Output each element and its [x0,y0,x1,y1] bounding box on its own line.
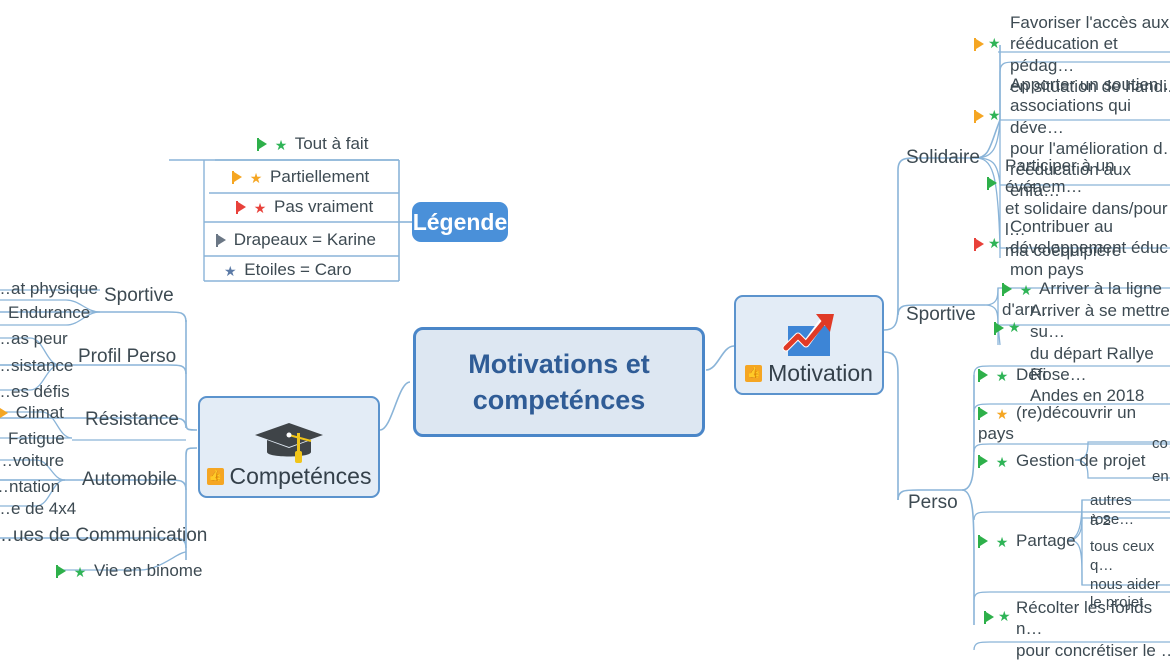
node-motivation[interactable]: Motivation [734,295,884,395]
node-motivation-label-row: Motivation [745,360,873,387]
leaf-perso-2-child-0[interactable]: co… [1152,435,1170,454]
branch-label-solidaire[interactable]: Solidaire [906,147,980,169]
mindmap-canvas: Motivations et competénces Competénces [0,0,1170,663]
branch-label-profil-perso[interactable]: Profil Perso [78,346,176,368]
leaf-left-communication-0[interactable]: ★ Vie en binome [56,560,202,581]
legend-item-label: Pas vraiment [274,197,373,216]
node-competences[interactable]: Competénces [198,396,380,498]
leaf-text: Arriver à se mettre su… du départ Rallye… [1030,301,1170,405]
legend-item-3[interactable]: Drapeaux = Karine [216,229,376,250]
star-icon: ★ [988,236,1001,250]
flag-icon [987,177,998,190]
node-competences-label-row: Competénces [207,463,372,490]
leaf-perso-3-child-1[interactable]: à 2 [1090,512,1111,531]
star-icon: ★ [988,108,1001,122]
leaf-solidaire-3[interactable]: ★ Contribuer au développement éduc… mon … [1010,216,1170,280]
central-node[interactable]: Motivations et competénces [413,327,705,437]
leaf-perso-0[interactable]: ★ Défi [978,364,1046,385]
growth-chart-icon [778,310,840,360]
branch-label-automobile[interactable]: Automobile [82,469,177,491]
leaf-perso-2[interactable]: ★ Gestion de projet [978,450,1146,471]
graduation-cap-icon [253,419,325,463]
leaf-left-automobile-2[interactable]: …e de 4x4 [0,498,76,519]
leaf-text: Fatigue [8,429,65,448]
leaf-text: Contribuer au développement éduc… mon pa… [1010,217,1170,279]
legend-item-label: Tout à fait [295,134,369,153]
leaf-text: …e de 4x4 [0,499,76,518]
cap-tassel-icon [297,433,300,453]
leaf-left-resistance-1[interactable]: Fatigue [8,428,65,449]
leaf-text: à 2 [1090,512,1111,529]
legend-item-4[interactable]: ★ Etoiles = Caro [224,259,352,280]
leaf-text: Vie en binome [94,561,202,580]
leaf-perso-3[interactable]: ★ Partage [978,530,1076,551]
legend-item-2[interactable]: ★ Pas vraiment [236,196,373,217]
flag-icon [994,322,1005,335]
star-icon: ★ [1008,320,1021,334]
leaf-text: Gestion de projet [1016,451,1145,470]
leaf-left-profil-2[interactable]: …es défis [0,381,70,402]
leaf-text: …sistance [0,356,73,375]
branch-label-communication[interactable]: …ues de Communication [0,525,207,547]
legend-item-label: Etoiles = Caro [244,260,351,279]
node-competences-label: Competénces [230,463,372,490]
legend-button-label: Légende [413,209,508,236]
flag-icon [1002,283,1013,296]
leaf-text: co… [1152,435,1170,452]
leaf-text: …es défis [0,382,70,401]
leaf-left-resistance-0[interactable]: Climat [0,402,64,423]
flag-icon [978,535,989,548]
central-node-line1: Motivations et [468,346,650,382]
star-icon: ★ [996,535,1009,549]
legend-item-label: Partiellement [270,167,369,186]
leaf-left-sportive-0[interactable]: …at physique [0,278,98,299]
leaf-text: …at physique [0,279,98,298]
leaf-perso-1[interactable]: ★ (re)découvrir un pays [978,402,1170,445]
leaf-text: Partage [1016,531,1076,550]
branch-label-text: Automobile [82,469,177,490]
leaf-perso-2-child-1[interactable]: en… [1152,468,1170,487]
star-icon: ★ [988,36,1001,50]
star-icon: ★ [996,455,1009,469]
star-icon: ★ [275,138,288,152]
flag-icon [974,110,985,123]
flag-icon [978,407,989,420]
legend-button[interactable]: Légende [412,202,508,242]
leaf-sportive-right-1[interactable]: ★ Arriver à se mettre su… du départ Rall… [1030,300,1170,406]
thumbs-up-icon [745,365,762,382]
legend-item-label: Drapeaux = Karine [234,230,376,249]
star-icon: ★ [250,171,263,185]
branch-label-text: Perso [908,492,958,513]
leaf-text: …as peur [0,329,68,348]
star-icon: ★ [224,264,237,278]
star-icon: ★ [1020,283,1033,297]
branch-label-text: Sportive [906,304,976,325]
leaf-text: en… [1152,468,1170,485]
branch-label-perso[interactable]: Perso [908,492,958,514]
leaf-left-profil-0[interactable]: …as peur [0,328,68,349]
leaf-left-automobile-1[interactable]: …ntation [0,476,60,497]
branch-label-text: Solidaire [906,147,980,168]
leaf-text: Climat [16,403,64,422]
branch-label-sportive-left[interactable]: Sportive [104,285,174,307]
branch-label-text: …ues de Communication [0,525,207,546]
flag-icon [232,171,243,184]
leaf-perso-4[interactable]: ★ Récolter les fonds n… pour concrétiser… [1016,597,1170,661]
flag-icon [984,611,995,624]
flag-icon [978,455,989,468]
branch-label-sportive-right[interactable]: Sportive [906,304,976,326]
flag-icon [257,138,268,151]
central-node-line2: competénces [468,382,650,418]
leaf-left-profil-1[interactable]: …sistance [0,355,73,376]
leaf-left-sportive-1[interactable]: Endurance [8,302,90,323]
leaf-text: Récolter les fonds n… pour concrétiser l… [1016,598,1170,660]
branch-label-text: Profil Perso [78,346,176,367]
star-icon: ★ [998,609,1011,623]
legend-item-1[interactable]: ★ Partiellement [232,166,369,187]
leaf-text: Endurance [8,303,90,322]
thumbs-up-icon [207,468,224,485]
node-motivation-label: Motivation [768,360,873,387]
leaf-left-automobile-0[interactable]: …voiture [0,450,64,471]
branch-label-resistance[interactable]: Résistance [85,409,179,431]
flag-icon [236,201,247,214]
flag-icon [56,565,67,578]
star-icon: ★ [74,565,87,579]
leaf-text: Défi [1016,365,1046,384]
star-icon: ★ [254,201,267,215]
branch-label-text: Sportive [104,285,174,306]
leaf-text: …ntation [0,477,60,496]
flag-icon [978,369,989,382]
leaf-text: …voiture [0,451,64,470]
star-icon: ★ [996,369,1009,383]
star-icon: ★ [996,407,1009,421]
flag-icon [974,38,985,51]
flag-icon [0,407,9,420]
branch-label-text: Résistance [85,409,179,430]
flag-icon [216,234,227,247]
flag-icon [974,238,985,251]
legend-item-0[interactable]: ★ Tout à fait [257,133,368,154]
